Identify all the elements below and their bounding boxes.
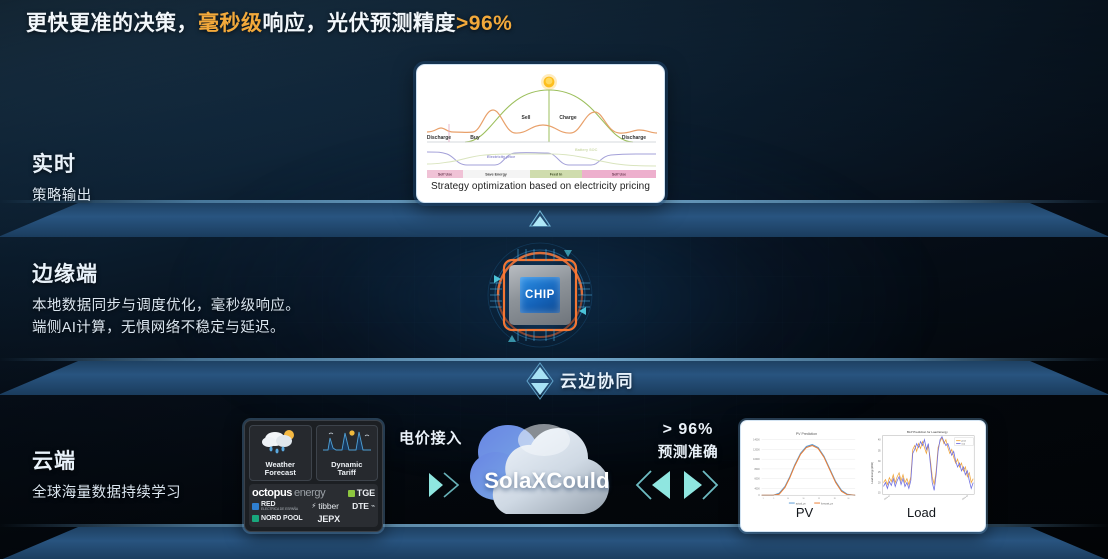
svg-text:6000: 6000 xyxy=(754,479,760,481)
slide-stage: 更快更准的决策，毫秒级响应，光伏预测精度>96% 实时 策略输出 边缘端 本地数… xyxy=(0,0,1108,559)
svg-text:8000: 8000 xyxy=(754,469,760,471)
page-title: 更快更准的决策，毫秒级响应，光伏预测精度>96% xyxy=(26,7,512,37)
accuracy-value: > 96% xyxy=(640,421,736,439)
platform-divider-2 xyxy=(0,358,1108,395)
chip-label: CHIP xyxy=(525,289,555,301)
section-title: 边缘端 xyxy=(32,258,300,288)
logo-tibber: ⚡tibber xyxy=(311,501,339,511)
partner-logos: octopusenergy TGE REDELECTRICA DE ESPAÑA… xyxy=(249,484,378,527)
prediction-chart-names: PV Load xyxy=(746,505,980,520)
logo-nord-pool: NORD POOL xyxy=(252,515,303,522)
svg-text:28: 28 xyxy=(834,498,836,500)
band-label-save-energy: Save Energy xyxy=(485,173,507,177)
logo-row-1: octopusenergy TGE xyxy=(252,487,375,499)
svg-text:14000: 14000 xyxy=(753,440,760,442)
svg-text:10000: 10000 xyxy=(753,459,760,461)
arrow-left-icon xyxy=(637,471,670,499)
cloud-rain-sun-icon xyxy=(260,428,300,454)
series-label-battery-soc: Battery SOC xyxy=(575,148,598,152)
cloud-edge-collab-label: 云边协同 xyxy=(560,367,634,392)
logo-octopus-energy: octopusenergy xyxy=(252,487,325,499)
cloud-name: SolaXCould xyxy=(462,468,632,494)
chip-package: CHIP xyxy=(509,265,571,325)
tile-weather-forecast[interactable]: WeatherForecast xyxy=(249,425,312,481)
band-label-self-use-1: Self Use xyxy=(438,173,452,177)
svg-text:actual_pv: actual_pv xyxy=(796,502,807,505)
load-chart-title: BLP Prediction for Load Energy xyxy=(907,430,948,434)
headline-highlight: 毫秒级 xyxy=(198,12,263,35)
headline-accent: >96% xyxy=(456,12,512,35)
tile-label: WeatherForecast xyxy=(265,461,296,478)
section-desc-line1: 本地数据同步与调度优化，毫秒级响应。 xyxy=(32,295,300,317)
tile-label: DynamicTariff xyxy=(331,461,362,478)
load-ylabel: Load Energy (kWh) xyxy=(871,462,874,484)
platform-edge xyxy=(0,358,1108,361)
logo-row-3: NORD POOL JEPX xyxy=(252,514,375,524)
svg-text:real: real xyxy=(961,443,965,446)
strategy-chart: Discharge Buy Sell Charge Discharge Elec… xyxy=(423,70,660,180)
svg-text:22: 22 xyxy=(818,498,820,500)
arrow-pair-icon xyxy=(634,468,720,502)
headline-part1: 更快更准的决策， xyxy=(26,12,198,35)
arrows-up-down-icon xyxy=(526,362,554,400)
pv-name: PV xyxy=(746,505,863,520)
band-label-feed-in: Feed In xyxy=(550,173,563,177)
section-label-realtime: 实时 策略输出 xyxy=(32,148,92,207)
chip-die: CHIP xyxy=(520,277,560,313)
annotation-buy: Buy xyxy=(470,135,480,141)
section-desc-line2: 端侧AI计算，无惧网络不稳定与延迟。 xyxy=(32,317,300,339)
pv-chart-svg: PV Prediction 1400012000 100008000 60004 xyxy=(746,425,861,507)
annotation-charge: Charge xyxy=(559,115,576,121)
section-label-cloud: 云端 全球海量数据持续学习 xyxy=(32,445,181,504)
svg-text:4000: 4000 xyxy=(754,488,760,490)
arrow-right-icon xyxy=(425,470,459,500)
arrow-up-icon xyxy=(528,210,552,228)
mode-band-row: Self Use Save Energy Feed In Self Use xyxy=(427,170,656,178)
accuracy-label: 预测准确 xyxy=(640,441,736,462)
tariff-chart-icon xyxy=(320,428,374,454)
load-chart-svg: BLP Prediction for Load Energy Load Ener… xyxy=(865,425,980,507)
logo-dte: DTE⌁ xyxy=(352,501,375,511)
pv-prediction-chart: PV Prediction 1400012000 100008000 60004 xyxy=(746,425,861,507)
platform-top xyxy=(0,203,1108,237)
svg-text:5: 5 xyxy=(773,498,774,500)
prediction-charts-row: PV Prediction 1400012000 100008000 60004 xyxy=(746,425,980,507)
platform-top xyxy=(0,361,1108,395)
annotation-discharge-right: Discharge xyxy=(622,135,646,141)
strategy-caption: Strategy optimization based on electrici… xyxy=(423,181,658,192)
load-legend: pred real xyxy=(955,438,974,446)
svg-text:10: 10 xyxy=(787,498,789,500)
edge-chip[interactable]: CHIP xyxy=(472,235,608,355)
svg-text:1: 1 xyxy=(763,498,764,500)
strategy-chart-card[interactable]: Discharge Buy Sell Charge Discharge Elec… xyxy=(416,64,665,203)
data-sources-card[interactable]: WeatherForecast DynamicTariff octopusene… xyxy=(244,420,383,532)
svg-text:forecast_pv: forecast_pv xyxy=(821,502,834,505)
svg-text:34: 34 xyxy=(847,498,849,500)
section-subtitle: 全球海量数据持续学习 xyxy=(32,482,181,504)
band-label-self-use-2: Self Use xyxy=(612,173,626,177)
annotation-sell: Sell xyxy=(522,115,532,121)
section-title: 云端 xyxy=(32,445,181,475)
svg-text:16: 16 xyxy=(803,498,805,500)
load-name: Load xyxy=(863,505,980,520)
pv-chart-title: PV Prediction xyxy=(796,432,817,436)
logo-row-2: REDELECTRICA DE ESPAÑA ⚡tibber DTE⌁ xyxy=(252,501,375,511)
tile-dynamic-tariff[interactable]: DynamicTariff xyxy=(316,425,379,481)
section-label-edge: 边缘端 本地数据同步与调度优化，毫秒级响应。 端侧AI计算，无惧网络不稳定与延迟… xyxy=(32,258,300,340)
section-title: 实时 xyxy=(32,148,92,178)
load-prediction-chart: BLP Prediction for Load Energy Load Ener… xyxy=(865,425,980,507)
prediction-charts-card[interactable]: PV Prediction 1400012000 100008000 60004 xyxy=(740,420,986,532)
logo-tge: TGE xyxy=(348,488,375,498)
annotation-discharge-left: Discharge xyxy=(427,135,451,141)
logo-jepx: JEPX xyxy=(317,514,340,524)
logo-red-electrica: REDELECTRICA DE ESPAÑA xyxy=(252,501,298,511)
headline-part2: 响应，光伏预测精度 xyxy=(263,12,457,35)
section-subtitle: 策略输出 xyxy=(32,185,92,207)
svg-text:12000: 12000 xyxy=(753,449,760,451)
platform-divider-1 xyxy=(0,200,1108,237)
sun-icon xyxy=(541,74,557,90)
accuracy-block: > 96% 预测准确 xyxy=(640,421,736,462)
price-input-label: 电价接入 xyxy=(399,427,462,448)
series-label-electricity-price: Electricity price xyxy=(487,155,515,159)
cloud-platform[interactable]: SolaXCould xyxy=(462,410,632,532)
arrow-right-icon xyxy=(684,471,717,499)
source-tiles: WeatherForecast DynamicTariff xyxy=(249,425,378,481)
